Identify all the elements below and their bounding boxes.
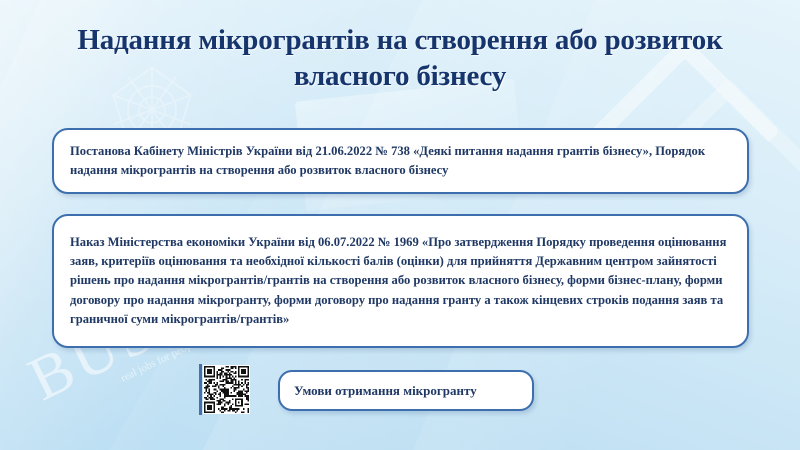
qr-accent-bar — [199, 364, 202, 415]
qr-code-container[interactable] — [199, 364, 251, 415]
qr-code-icon[interactable] — [203, 365, 250, 414]
qr-code-canvas[interactable] — [204, 366, 249, 413]
resolution-callout-text: Постанова Кабінету Міністрів України від… — [70, 142, 731, 180]
page-title: Надання мікрогрантів на створення або ро… — [60, 22, 740, 95]
slide-canvas: BUSI real jobs for people who travel Над… — [0, 0, 800, 450]
resolution-callout-box: Постанова Кабінету Міністрів України від… — [52, 128, 749, 194]
conditions-callout-box[interactable]: Умови отримання мікрогранту — [278, 370, 534, 411]
order-callout-text: Наказ Міністерства економіки України від… — [70, 233, 731, 329]
order-callout-box: Наказ Міністерства економіки України від… — [52, 214, 749, 348]
conditions-callout-text: Умови отримання мікрогранту — [294, 383, 518, 399]
